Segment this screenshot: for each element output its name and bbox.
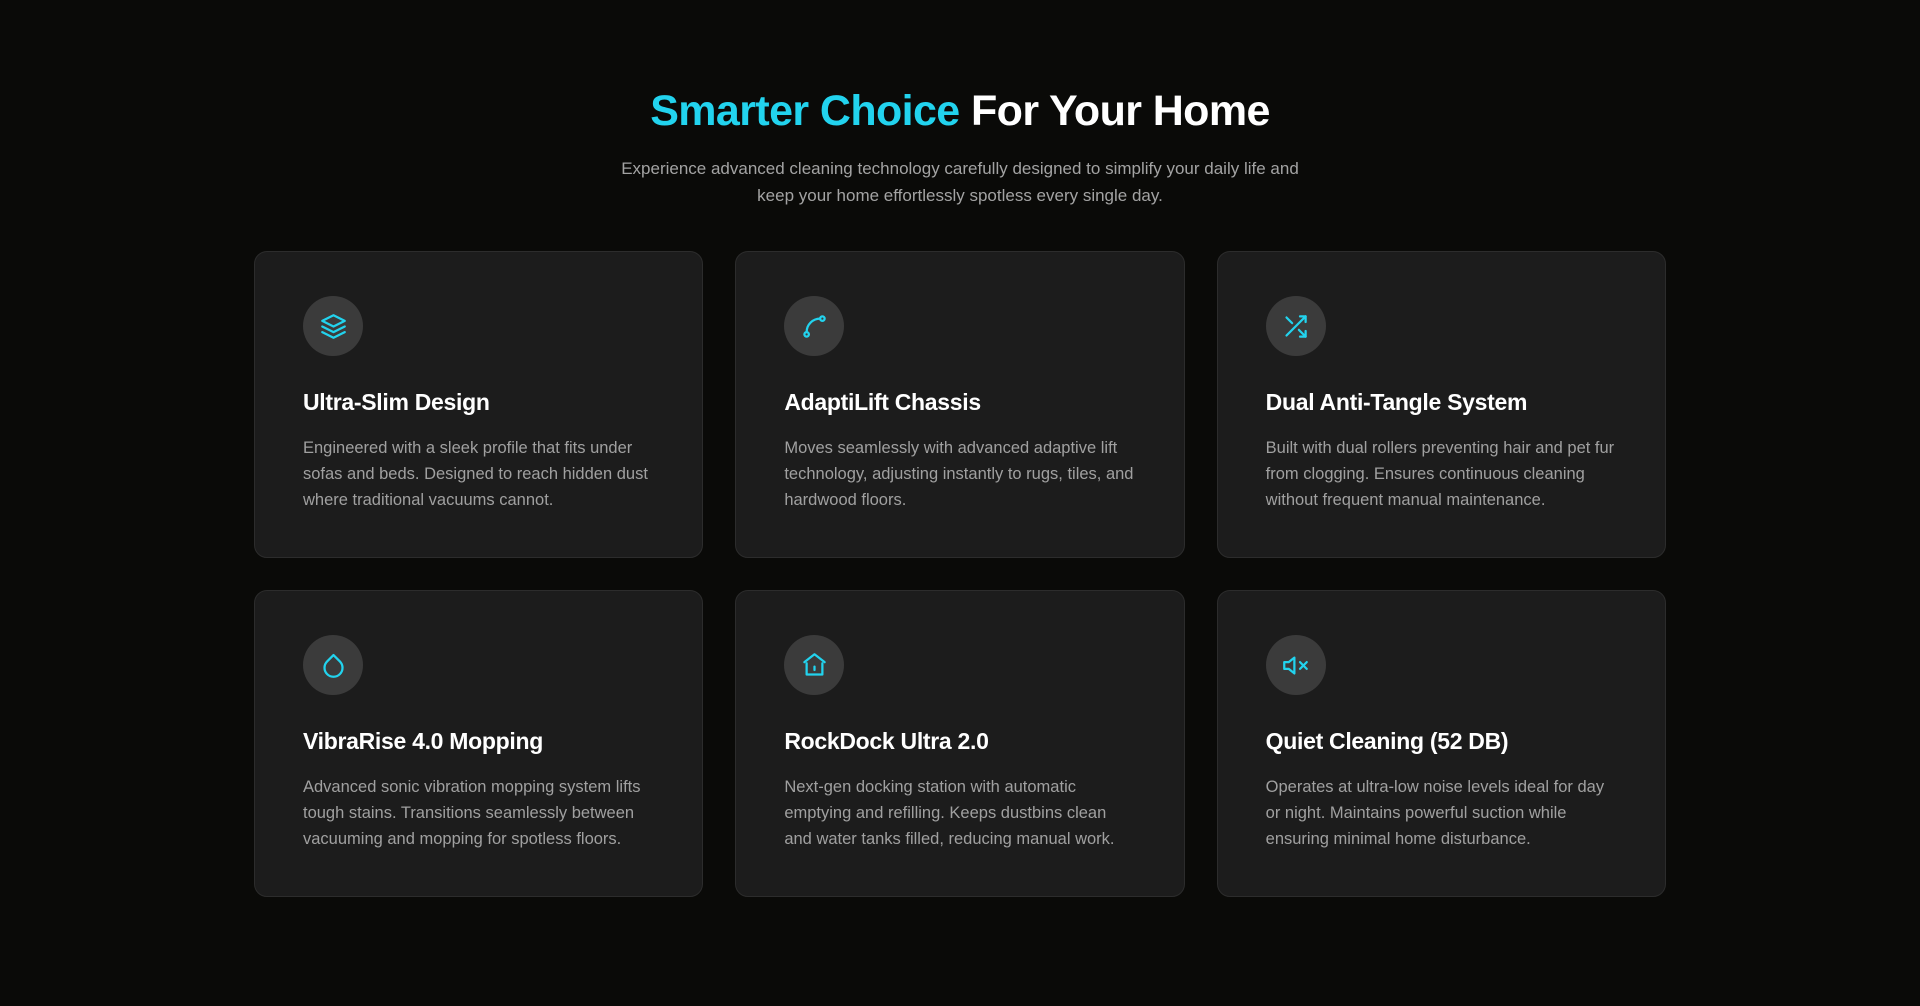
page-title-accent: Smarter Choice bbox=[650, 87, 959, 135]
home-icon bbox=[784, 635, 844, 695]
feature-card[interactable]: RockDock Ultra 2.0 Next-gen docking stat… bbox=[735, 590, 1184, 897]
feature-card-title: RockDock Ultra 2.0 bbox=[784, 728, 1135, 756]
page-title: Smarter Choice For Your Home bbox=[650, 88, 1270, 134]
feature-card-grid: Ultra-Slim Design Engineered with a slee… bbox=[254, 251, 1666, 896]
page-title-plain: For Your Home bbox=[960, 87, 1270, 135]
feature-card-description: Moves seamlessly with advanced adaptive … bbox=[784, 435, 1134, 513]
page-subtitle-line2: keep your home effortlessly spotless eve… bbox=[757, 186, 1163, 205]
feature-card-title: VibraRise 4.0 Mopping bbox=[303, 728, 654, 756]
features-section: Smarter Choice For Your Home Experience … bbox=[0, 0, 1920, 1006]
feature-card-title: Dual Anti-Tangle System bbox=[1266, 389, 1617, 417]
volume-mute-icon bbox=[1266, 635, 1326, 695]
feature-card-title: Quiet Cleaning (52 DB) bbox=[1266, 728, 1617, 756]
layers-icon bbox=[303, 296, 363, 356]
page-subtitle-line1: Experience advanced cleaning technology … bbox=[621, 159, 1299, 178]
page-subtitle: Experience advanced cleaning technology … bbox=[610, 155, 1310, 209]
feature-card-description: Operates at ultra-low noise levels ideal… bbox=[1266, 774, 1616, 852]
feature-card[interactable]: AdaptiLift Chassis Moves seamlessly with… bbox=[735, 251, 1184, 558]
feature-card-title: Ultra-Slim Design bbox=[303, 389, 654, 417]
feature-card-title: AdaptiLift Chassis bbox=[784, 389, 1135, 417]
feature-card-description: Advanced sonic vibration mopping system … bbox=[303, 774, 653, 852]
feature-card-description: Next-gen docking station with automatic … bbox=[784, 774, 1134, 852]
shuffle-icon bbox=[1266, 296, 1326, 356]
droplet-icon bbox=[303, 635, 363, 695]
feature-card[interactable]: Dual Anti-Tangle System Built with dual … bbox=[1217, 251, 1666, 558]
feature-card[interactable]: VibraRise 4.0 Mopping Advanced sonic vib… bbox=[254, 590, 703, 897]
spline-curve-icon bbox=[784, 296, 844, 356]
feature-card-description: Built with dual rollers preventing hair … bbox=[1266, 435, 1616, 513]
feature-card[interactable]: Quiet Cleaning (52 DB) Operates at ultra… bbox=[1217, 590, 1666, 897]
feature-card-description: Engineered with a sleek profile that fit… bbox=[303, 435, 653, 513]
feature-card[interactable]: Ultra-Slim Design Engineered with a slee… bbox=[254, 251, 703, 558]
